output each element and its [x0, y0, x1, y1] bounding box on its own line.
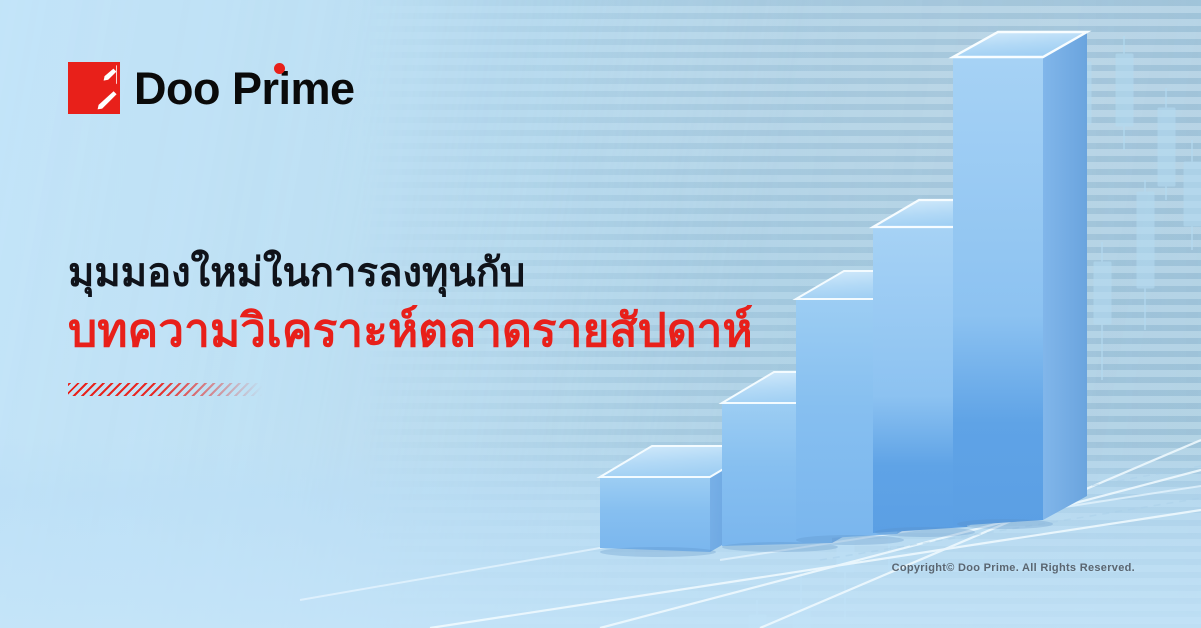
copyright-text: Copyright© Doo Prime. All Rights Reserve…: [892, 562, 1135, 574]
headline-block: มุมมองใหม่ในการลงทุนกับ บทความวิเคราะห์ต…: [68, 250, 753, 396]
promo-banner: Doo Prime มุมมองใหม่ในการลงทุนกับ บทความ…: [0, 0, 1201, 628]
brand-wordmark-text: Doo Prime: [134, 63, 355, 114]
brand-i-dot-icon: [274, 63, 285, 74]
bar-5: [953, 32, 1087, 526]
headline-line-2: บทความวิเคราะห์ตลาดรายสัปดาห์: [68, 303, 753, 357]
brand-wordmark: Doo Prime: [134, 66, 355, 111]
doo-prime-pen-mark-icon: [68, 62, 120, 114]
diagonal-hatch-rule-icon: [68, 383, 262, 396]
headline-line-1: มุมมองใหม่ในการลงทุนกับ: [68, 250, 753, 297]
brand-logo[interactable]: Doo Prime: [68, 62, 355, 114]
